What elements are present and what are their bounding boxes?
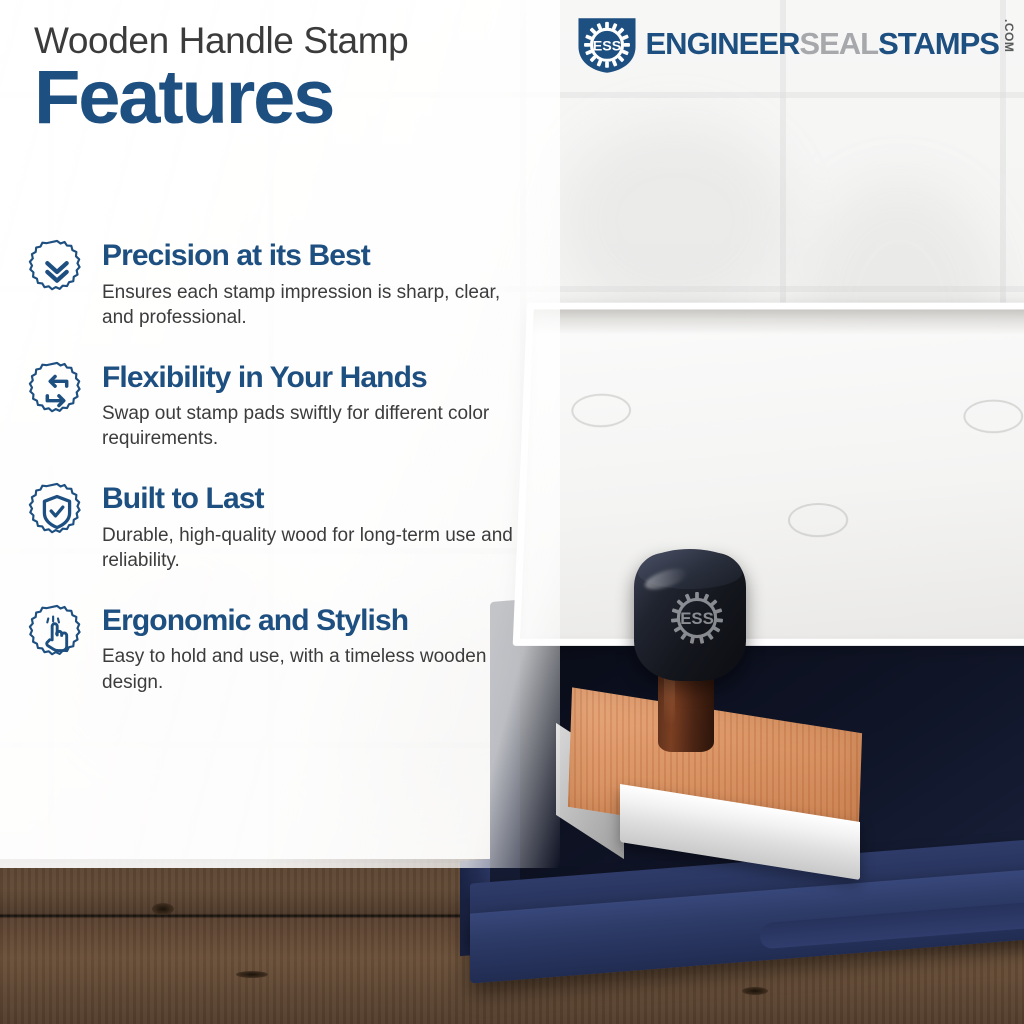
feature-title: Flexibility in Your Hands [102, 362, 571, 394]
feature-description: Durable, high-quality wood for long-term… [102, 523, 522, 573]
logo-word-engineer: ENGINEER [646, 28, 800, 59]
stamp-knob-logo-text: ESS [680, 609, 714, 628]
feature-description: Easy to hold and use, with a timeless wo… [102, 644, 522, 694]
feature-title: Precision at its Best [102, 240, 571, 272]
feature-item: Flexibility in Your Hands Swap out stamp… [26, 358, 571, 452]
feature-list: Precision at its Best Ensures each stamp… [26, 236, 571, 723]
feature-description: Ensures each stamp impression is sharp, … [102, 280, 522, 330]
logo-word-seal: SEAL [799, 28, 878, 59]
page-header: Wooden Handle Stamp Features [34, 22, 634, 133]
logo-word-stamps: STAMPS [878, 28, 999, 59]
lid-inner-shadow [533, 309, 1024, 334]
stamp-knob-ess-gear-icon: ESS [666, 587, 728, 649]
feature-item: Ergonomic and Stylish Easy to hold and u… [26, 601, 571, 695]
swap-arrows-badge-icon [26, 360, 88, 422]
feature-text-block: Flexibility in Your Hands Swap out stamp… [102, 358, 571, 452]
feature-title: Built to Last [102, 483, 571, 515]
logo-domain-suffix: .COM [1002, 19, 1016, 52]
shield-check-badge-icon [26, 481, 88, 543]
feature-item: Precision at its Best Ensures each stamp… [26, 236, 571, 330]
feature-description: Swap out stamp pads swiftly for differen… [102, 401, 522, 451]
ess-gear-badge-icon: ESS [576, 12, 638, 74]
tapping-hand-badge-icon [26, 603, 88, 665]
logo-wordmark: ENGINEER SEAL STAMPS .COM [646, 12, 1017, 74]
feature-text-block: Ergonomic and Stylish Easy to hold and u… [102, 601, 571, 695]
logo-mark-text: ESS [592, 38, 621, 54]
feature-item: Built to Last Durable, high-quality wood… [26, 479, 571, 573]
feature-text-block: Precision at its Best Ensures each stamp… [102, 236, 571, 330]
wooden-handle-stamp: ESS [548, 545, 888, 945]
feature-text-block: Built to Last Durable, high-quality wood… [102, 479, 571, 573]
marketing-graphic: ESS Wooden Handle Stamp Features [0, 0, 1024, 1024]
page-title: Features [34, 63, 634, 133]
double-chevron-down-badge-icon [26, 238, 88, 300]
feature-title: Ergonomic and Stylish [102, 605, 571, 637]
brand-logo[interactable]: ESS ENGINEER SEAL STAMPS .COM [576, 12, 1017, 74]
